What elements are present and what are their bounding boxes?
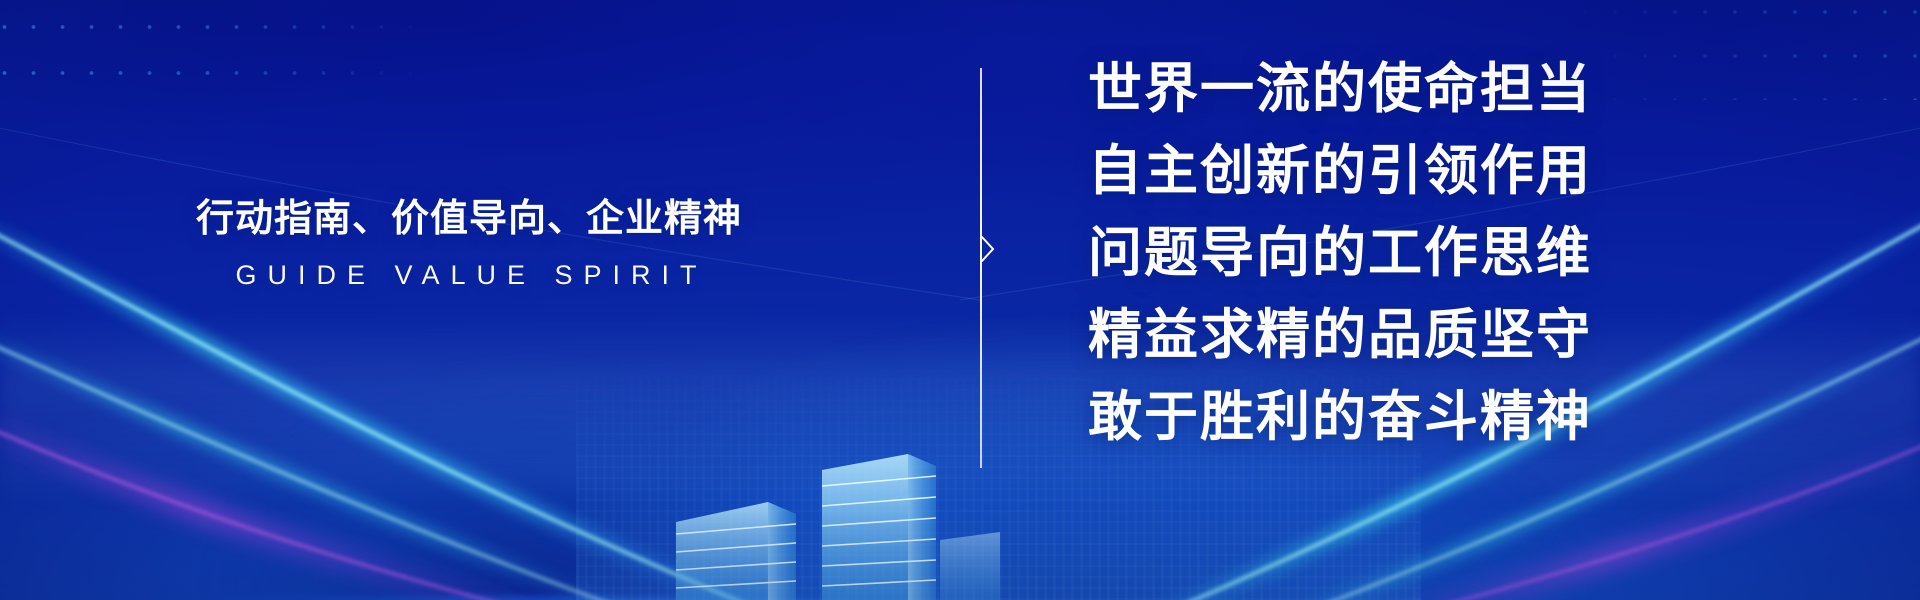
hero-banner: 行动指南、价值导向、企业精神 GUIDE VALUE SPIRIT 世界一流的使… (0, 0, 1920, 600)
vignette-overlay (0, 0, 1920, 600)
